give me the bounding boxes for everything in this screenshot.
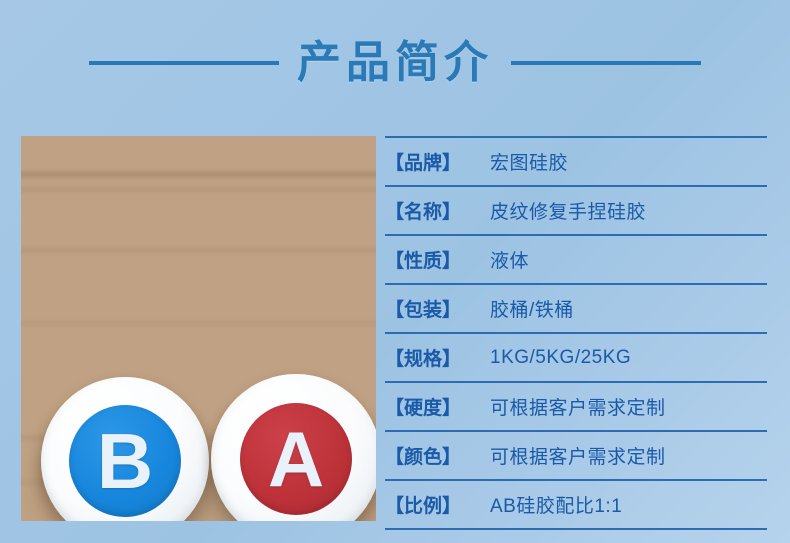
spec-value: 可根据客户需求定制 [490, 393, 767, 420]
table-row: 【性质】 液体 [385, 234, 767, 283]
page-title: 产品简介 [297, 41, 493, 85]
wood-grain-line [21, 172, 376, 177]
spec-label: 【规格】 [385, 344, 490, 371]
wood-grain-line [21, 322, 376, 325]
spec-value: AB硅胶配比1:1 [490, 491, 767, 518]
spec-label: 【品牌】 [385, 148, 490, 175]
table-row: 【品牌】 宏图硅胶 [385, 136, 767, 185]
jar-a-letter: A [268, 420, 324, 498]
table-row: 【名称】 皮纹修复手捏硅胶 [385, 185, 767, 234]
jar-a-disc: A [240, 403, 352, 515]
spec-value: 胶桶/铁桶 [490, 295, 767, 322]
spec-table: 【品牌】 宏图硅胶 【名称】 皮纹修复手捏硅胶 【性质】 液体 【包装】 胶桶/… [385, 136, 767, 530]
table-row: 【硬度】 可根据客户需求定制 [385, 381, 767, 430]
jar-b-letter: B [97, 422, 153, 500]
jar-b-disc: B [69, 405, 181, 517]
spec-value: 可根据客户需求定制 [490, 442, 767, 469]
product-photo: B A [21, 136, 376, 521]
table-row: 【颜色】 可根据客户需求定制 [385, 430, 767, 479]
wood-grain-line [21, 188, 376, 191]
spec-label: 【性质】 [385, 246, 490, 273]
spec-label: 【比例】 [385, 491, 490, 518]
spec-label: 【颜色】 [385, 442, 490, 469]
spec-label: 【名称】 [385, 197, 490, 224]
spec-value: 液体 [490, 246, 767, 273]
title-rule-right [511, 61, 701, 65]
spec-value: 1KG/5KG/25KG [490, 347, 767, 369]
title-rule-left [89, 61, 279, 65]
table-row: 【比例】 AB硅胶配比1:1 [385, 479, 767, 530]
wood-grain-line [21, 248, 376, 252]
table-row: 【规格】 1KG/5KG/25KG [385, 332, 767, 381]
spec-value: 皮纹修复手捏硅胶 [490, 197, 767, 224]
spec-label: 【硬度】 [385, 393, 490, 420]
spec-value: 宏图硅胶 [490, 148, 767, 175]
page-header: 产品简介 [0, 28, 790, 98]
product-intro-page: 产品简介 B A 【品牌】 宏图硅胶 [0, 0, 790, 543]
spec-label: 【包装】 [385, 295, 490, 322]
table-row: 【包装】 胶桶/铁桶 [385, 283, 767, 332]
